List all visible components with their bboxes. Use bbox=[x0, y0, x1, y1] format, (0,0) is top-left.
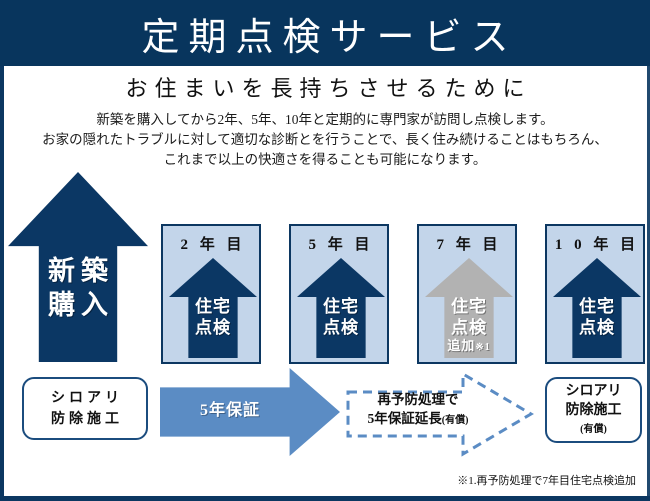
house-icon: 住宅 点検 bbox=[297, 258, 385, 358]
termite-renewal-line-2: 防除施工 bbox=[566, 401, 622, 420]
termite-treatment-start-box: シロアリ 防除施工 bbox=[22, 377, 148, 440]
termite-treatment-renewal-box: シロアリ 防除施工 (有償) bbox=[545, 377, 642, 443]
house-icon: 住宅 点検 追加※1 bbox=[425, 258, 513, 358]
milestone-year-label: 2 年 目 bbox=[163, 233, 259, 254]
milestone-year-2: 2 年 目 住宅 点検 bbox=[161, 224, 261, 364]
lead-line-1: 新築を購入してから2年、5年、10年と定期的に専門家が訪問し点検します。 bbox=[25, 110, 625, 130]
new-home-purchase-house: 新築 購入 bbox=[8, 172, 148, 362]
milestone-year-label: 1 0 年 目 bbox=[547, 233, 643, 254]
frame-bottom-rule bbox=[0, 496, 650, 501]
warranty-arrow bbox=[160, 368, 340, 456]
frame-left-rule bbox=[0, 66, 4, 496]
lead-line-2: お家の隠れたトラブルに対して適切な診断とを行うことで、長く住み続けることはもちろ… bbox=[25, 130, 625, 150]
house-shape bbox=[297, 258, 385, 358]
house-shape bbox=[425, 258, 513, 358]
termite-start-line-2: 防除施工 bbox=[47, 409, 123, 430]
warranty-extension-arrow bbox=[345, 370, 535, 458]
dashed-arrow-shape bbox=[345, 370, 535, 458]
milestone-year-label: 5 年 目 bbox=[291, 233, 387, 254]
page-title: 定期点検サービス bbox=[0, 0, 650, 66]
milestone-year-10: 1 0 年 目 住宅 点検 bbox=[545, 224, 645, 364]
termite-renewal-paid: (有償) bbox=[566, 420, 622, 439]
termite-start-line-1: シロアリ bbox=[47, 388, 123, 409]
infographic-page: 定期点検サービス お住まいを長持ちさせるために 新築を購入してから2年、5年、1… bbox=[0, 0, 650, 501]
lead-line-3: これまで以上の快適さを得ることも可能になります。 bbox=[25, 150, 625, 170]
house-shape bbox=[553, 258, 641, 358]
house-shape bbox=[169, 258, 257, 358]
milestone-year-5: 5 年 目 住宅 点検 bbox=[289, 224, 389, 364]
house-icon bbox=[8, 172, 148, 362]
house-icon: 住宅 点検 bbox=[553, 258, 641, 358]
milestone-year-7: 7 年 目 住宅 点検 追加※1 bbox=[417, 224, 517, 364]
page-subtitle: お住まいを長持ちさせるために bbox=[0, 68, 650, 106]
milestone-year-label: 7 年 目 bbox=[419, 233, 515, 254]
termite-treatment-renewal-text: シロアリ 防除施工 (有償) bbox=[566, 382, 622, 439]
footnote: ※1.再予防処理で7年目住宅点検追加 bbox=[0, 472, 636, 488]
lead-paragraph: 新築を購入してから2年、5年、10年と定期的に専門家が訪問し点検します。 お家の… bbox=[25, 110, 625, 170]
termite-treatment-start-text: シロアリ 防除施工 bbox=[47, 388, 123, 430]
house-icon: 住宅 点検 bbox=[169, 258, 257, 358]
termite-renewal-line-1: シロアリ bbox=[566, 382, 622, 401]
